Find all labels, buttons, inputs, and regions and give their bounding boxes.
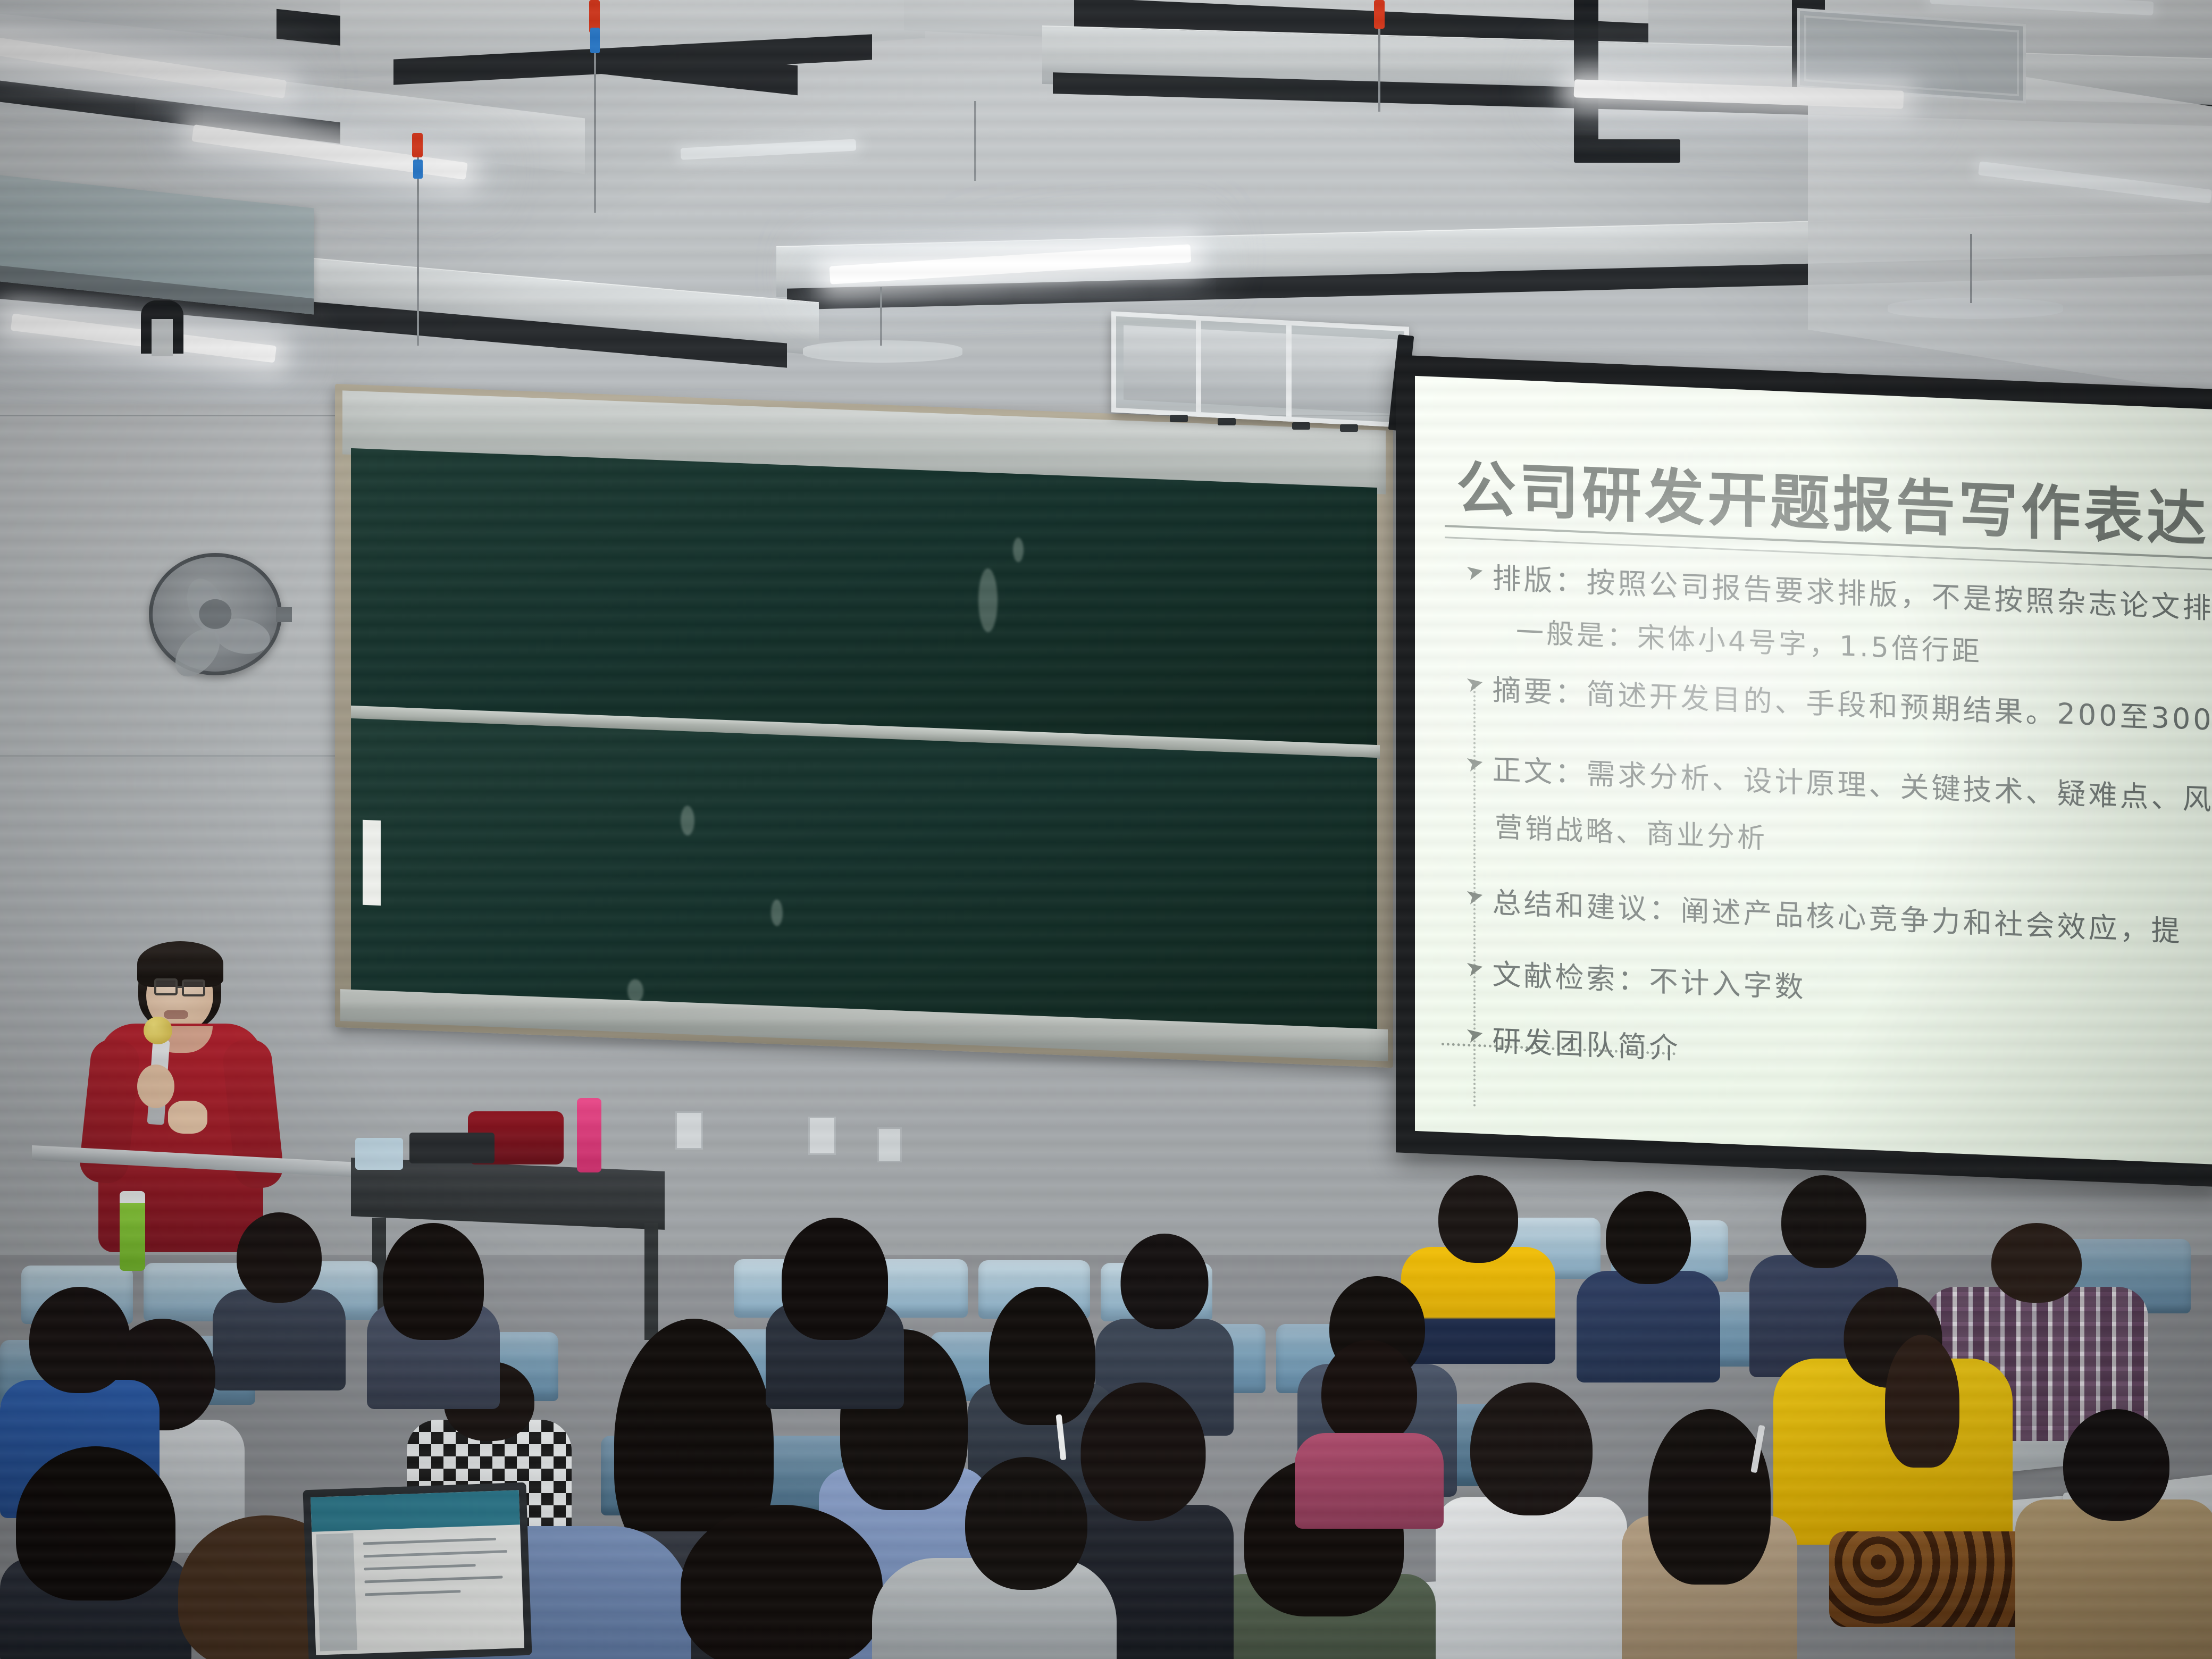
student-head — [965, 1457, 1087, 1590]
slide-bullet-text: 研发团队简介 — [1493, 1017, 1681, 1067]
student — [946, 1457, 1106, 1616]
instructor-hand — [137, 1065, 174, 1108]
slide: 公司研发开题报告写作表达 ➤ 排版：按照公司报告要求排版，不是按照杂志论文排版 … — [1415, 376, 2212, 1164]
student-head — [1121, 1234, 1209, 1329]
student-torso — [1436, 1497, 1627, 1659]
instructor — [74, 925, 319, 1255]
bullet-arrow-icon: ➤ — [1464, 560, 1486, 584]
wall-outlet[interactable] — [808, 1117, 836, 1155]
student-hair — [16, 1446, 175, 1601]
student — [766, 1218, 904, 1398]
student-head — [29, 1287, 130, 1393]
projector-mount-foot — [1170, 415, 1188, 422]
student-hair — [681, 1505, 883, 1659]
student-hair — [1648, 1409, 1771, 1585]
wall-outlet[interactable] — [675, 1111, 703, 1150]
student — [367, 1223, 500, 1398]
slide-title: 公司研发开题报告写作表达 — [1456, 440, 2209, 558]
projector-mount-foot — [1292, 422, 1310, 430]
hanging-marker-red — [412, 133, 423, 157]
student-head — [2063, 1409, 2169, 1521]
hanging-marker-blue — [413, 160, 423, 179]
slide-sub-text: 一般是：宋体小4号字，1.5倍行距 — [1516, 610, 1982, 669]
bullet-arrow-icon: ➤ — [1464, 884, 1486, 909]
slide-bullet: ➤ 研发团队简介 — [1466, 1016, 1681, 1067]
student-head — [1321, 1340, 1417, 1446]
instructor-glasses — [154, 978, 178, 995]
student — [1574, 1191, 1723, 1367]
green-drink-bottle — [120, 1191, 145, 1271]
laptop-screen[interactable] — [311, 1490, 524, 1655]
slide-bullet: ➤ 文献检索：不计入字数 — [1466, 950, 1806, 1006]
student — [1436, 1382, 1627, 1659]
ceiling-fan — [803, 340, 962, 363]
classroom-photo: 公司研发开题报告写作表达 ➤ 排版：按照公司报告要求排版，不是按照杂志论文排版 … — [0, 0, 2212, 1659]
slide-bullet: ➤ 总结和建议：阐述产品核心竞争力和社会效应，提 — [1466, 878, 2183, 950]
student-hair — [383, 1223, 484, 1340]
student-head — [1438, 1175, 1518, 1263]
pink-water-bottle — [577, 1098, 601, 1172]
blackboard-notice — [363, 820, 381, 906]
bullet-arrow-icon: ➤ — [1464, 672, 1486, 696]
slide-bullet: ➤ 摘要：简述开发目的、手段和预期结果。200至300字 — [1466, 665, 2212, 740]
student-hair — [782, 1218, 888, 1340]
instructor-hair-top — [137, 941, 223, 987]
student — [1292, 1340, 1446, 1515]
slide-bullet-text: 文献检索：不计入字数 — [1493, 951, 1806, 1006]
wall-fan — [149, 553, 282, 675]
slide-bullet-text: 摘要：简述开发目的、手段和预期结果。200至300字 — [1493, 666, 2212, 740]
projector-cage — [1111, 311, 1409, 428]
wall-outlet[interactable] — [877, 1127, 902, 1162]
projection-screen: 公司研发开题报告写作表达 ➤ 排版：按照公司报告要求排版，不是按照杂志论文排版 … — [1396, 355, 2212, 1187]
instructor-hand-2 — [168, 1101, 207, 1134]
student-torso — [1295, 1433, 1444, 1529]
student-hair — [1885, 1335, 1959, 1468]
bullet-arrow-icon: ➤ — [1464, 956, 1486, 981]
ceiling — [0, 0, 2212, 420]
hanging-marker-red — [1374, 0, 1385, 29]
laptop[interactable] — [303, 1482, 532, 1659]
slide-sub-text: 营销战略、商业分析 — [1495, 805, 1767, 856]
blackboard — [335, 384, 1393, 1068]
ceiling-fan — [1888, 298, 2063, 319]
ceiling-light — [681, 139, 857, 160]
student-torso — [2015, 1499, 2212, 1659]
student — [1622, 1409, 1797, 1659]
dark-equipment — [409, 1133, 495, 1163]
student-torso — [1577, 1271, 1720, 1382]
microphone-head-icon — [144, 1017, 172, 1044]
laptop-titlebar — [311, 1490, 520, 1532]
student-head — [1781, 1175, 1866, 1268]
student-yellow-sweater — [1771, 1287, 2015, 1542]
student-head — [1470, 1382, 1593, 1515]
student — [670, 1505, 893, 1659]
tissue-box — [355, 1138, 403, 1170]
instructor-glasses — [182, 979, 205, 996]
projector-mount-foot — [1218, 418, 1236, 425]
student — [2015, 1409, 2212, 1659]
bullet-arrow-icon: ➤ — [1464, 1023, 1486, 1047]
projector-mount-foot — [1340, 424, 1358, 432]
student-head — [237, 1212, 322, 1303]
slide-bullet-text: 总结和建议：阐述产品核心竞争力和社会效应，提 — [1493, 879, 2183, 950]
hanging-marker-blue — [590, 28, 600, 53]
student-head — [1606, 1191, 1691, 1284]
bullet-arrow-icon: ➤ — [1464, 751, 1486, 776]
